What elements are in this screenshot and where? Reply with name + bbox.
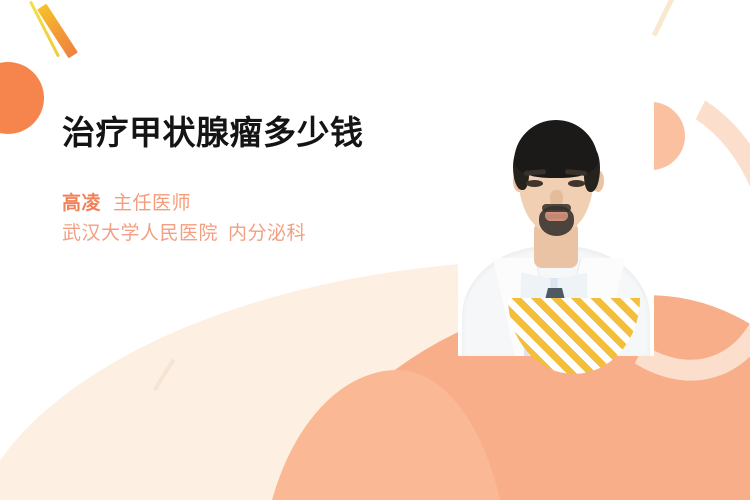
hospital-line: 武汉大学人民医院内分泌科 (62, 219, 412, 249)
orange-circle-decoration (0, 62, 44, 134)
moustache (542, 204, 571, 212)
doctor-line: 高凌主任医师 (62, 189, 412, 219)
department-name: 内分泌科 (228, 223, 306, 244)
hospital-name: 武汉大学人民医院 (62, 223, 218, 244)
doctor-info-card: 治疗甲状腺瘤多少钱 高凌主任医师 武汉大学人民医院内分泌科 (0, 0, 750, 500)
yellow-diagonal-stroke-decoration (29, 1, 60, 58)
text-block: 治疗甲状腺瘤多少钱 高凌主任医师 武汉大学人民医院内分泌科 (62, 112, 412, 249)
doctor-rank: 主任医师 (113, 193, 191, 214)
hair (514, 120, 598, 178)
doctor-name: 高凌 (62, 193, 101, 214)
faint-diagonal-stroke-decoration (652, 0, 678, 37)
page-title: 治疗甲状腺瘤多少钱 (62, 112, 412, 154)
faint-diagonal-stroke-decoration-2 (153, 359, 175, 392)
orange-diagonal-stroke-decoration (37, 4, 78, 59)
mouth (545, 214, 568, 219)
eye-left (526, 180, 543, 187)
eye-right (568, 180, 585, 187)
